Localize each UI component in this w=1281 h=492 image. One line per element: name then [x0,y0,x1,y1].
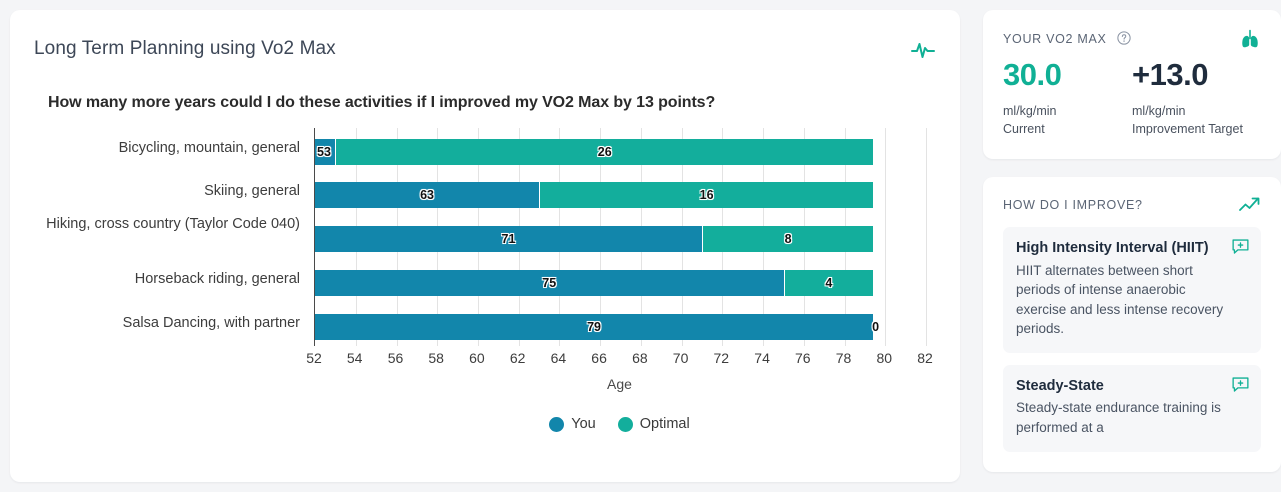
bar-segment-you[interactable]: 71 [315,226,702,252]
bar-value-you: 71 [502,233,516,246]
gridline-82 [926,128,927,346]
vo2-stats: 30.0 ml/kg/min Current +13.0 ml/kg/min I… [1003,59,1261,139]
y-label-salsa: Salsa Dancing, with partner [10,314,300,333]
y-label-skiing: Skiing, general [10,182,300,201]
vo2-max-card: YOUR VO2 MAX [983,10,1281,159]
message-plus-icon[interactable] [1232,238,1249,255]
lungs-icon [1239,28,1261,50]
message-plus-icon[interactable] [1232,376,1249,393]
bar-segment-optimal[interactable]: 16 [539,182,873,208]
vo2-stat-target: +13.0 ml/kg/min Improvement Target [1132,59,1261,139]
vo2-card-header: YOUR VO2 MAX [1003,28,1261,50]
bar-row-hiking[interactable]: 71 8 [315,226,873,252]
xtick-66: 66 [591,350,607,366]
legend-item-optimal[interactable]: Optimal [618,416,690,432]
tip-card-steady-state[interactable]: Steady-State Steady-state endurance trai… [1003,365,1261,452]
bar-value-you: 63 [420,189,434,202]
vo2-target-unit: ml/kg/min [1132,102,1261,121]
xtick-52: 52 [306,350,322,366]
bar-segment-you[interactable]: 63 [315,182,539,208]
help-circle-icon[interactable] [1117,31,1131,45]
bar-value-you: 53 [317,146,331,159]
tip-title: High Intensity Interval (HIIT) [1016,239,1248,259]
legend-label-optimal: Optimal [640,416,690,432]
page-title: Long Term Planning using Vo2 Max [34,38,336,60]
improve-card-heading: HOW DO I IMPROVE? [1003,198,1143,212]
chart-question: How many more years could I do these act… [10,62,960,112]
sidebar: YOUR VO2 MAX [983,10,1281,492]
xtick-58: 58 [428,350,444,366]
legend-label-you: You [571,416,595,432]
chart-bars: 53 26 63 16 [315,128,925,346]
trending-up-icon[interactable] [1239,195,1261,215]
vo2-card-heading-group: YOUR VO2 MAX [1003,30,1131,48]
bar-value-optimal: 4 [825,277,832,290]
bar-value-optimal: 0 [872,321,879,334]
xtick-82: 82 [917,350,933,366]
vo2-current-unit: ml/kg/min [1003,102,1132,121]
long-term-planning-card: Long Term Planning using Vo2 Max How man… [10,10,960,482]
vo2-stat-current: 30.0 ml/kg/min Current [1003,59,1132,139]
chart-x-axis-ticks: 52 54 56 58 60 62 64 66 68 70 72 74 76 7… [314,350,925,370]
xtick-78: 78 [836,350,852,366]
xtick-56: 56 [388,350,404,366]
page-root: Long Term Planning using Vo2 Max How man… [0,0,1281,492]
xtick-54: 54 [347,350,363,366]
xtick-74: 74 [754,350,770,366]
vo2-current-sublabel: Current [1003,120,1132,139]
tip-description: HIIT alternates between short periods of… [1016,261,1248,339]
bar-segment-you[interactable]: 53 [315,139,335,165]
xtick-70: 70 [673,350,689,366]
how-do-i-improve-card: HOW DO I IMPROVE? High Intensity Interva… [983,177,1281,472]
bar-row-salsa[interactable]: 79 0 [315,314,873,340]
bar-segment-you[interactable]: 75 [315,270,784,296]
card-header: Long Term Planning using Vo2 Max [10,10,960,62]
bar-segment-optimal[interactable]: 26 [335,139,873,165]
bar-value-you: 75 [542,277,556,290]
bar-row-skiing[interactable]: 63 16 [315,182,873,208]
y-label-hiking: Hiking, cross country (Taylor Code 040) [10,215,300,234]
xtick-64: 64 [551,350,567,366]
xtick-62: 62 [510,350,526,366]
tip-card-hiit[interactable]: High Intensity Interval (HIIT) HIIT alte… [1003,227,1261,353]
bar-value-optimal: 26 [598,146,612,159]
xtick-60: 60 [469,350,485,366]
xtick-68: 68 [632,350,648,366]
pulse-icon[interactable] [910,36,936,62]
legend-item-you[interactable]: You [549,416,595,432]
chart-legend: You Optimal [314,416,925,432]
x-axis-title: Age [314,376,925,392]
bar-row-horseback[interactable]: 75 4 [315,270,873,296]
tip-description: Steady-state endurance training is perfo… [1016,398,1248,437]
legend-dot-optimal-icon [618,417,633,432]
legend-dot-you-icon [549,417,564,432]
bar-value-optimal: 8 [785,233,792,246]
xtick-72: 72 [714,350,730,366]
bar-value-optimal: 16 [700,189,714,202]
y-label-bicycling: Bicycling, mountain, general [10,139,300,158]
xtick-80: 80 [877,350,893,366]
chart-area: Bicycling, mountain, general Skiing, gen… [10,128,960,428]
bar-segment-optimal[interactable]: 8 [702,226,873,252]
vo2-card-heading: YOUR VO2 MAX [1003,32,1107,46]
vo2-current-value: 30.0 [1003,59,1132,92]
tip-title: Steady-State [1016,377,1248,397]
improve-tip-list: High Intensity Interval (HIIT) HIIT alte… [1003,227,1261,452]
chart-plot-area: 53 26 63 16 [314,128,925,346]
bar-value-you: 79 [587,321,601,334]
vo2-target-value: +13.0 [1132,59,1261,92]
xtick-76: 76 [795,350,811,366]
vo2-target-sublabel: Improvement Target [1132,120,1261,139]
bar-segment-you[interactable]: 79 0 [315,314,873,340]
improve-card-header: HOW DO I IMPROVE? [1003,195,1261,215]
y-label-horseback: Horseback riding, general [10,270,300,289]
bar-row-bicycling[interactable]: 53 26 [315,139,873,165]
bar-segment-optimal[interactable]: 4 [784,270,874,296]
